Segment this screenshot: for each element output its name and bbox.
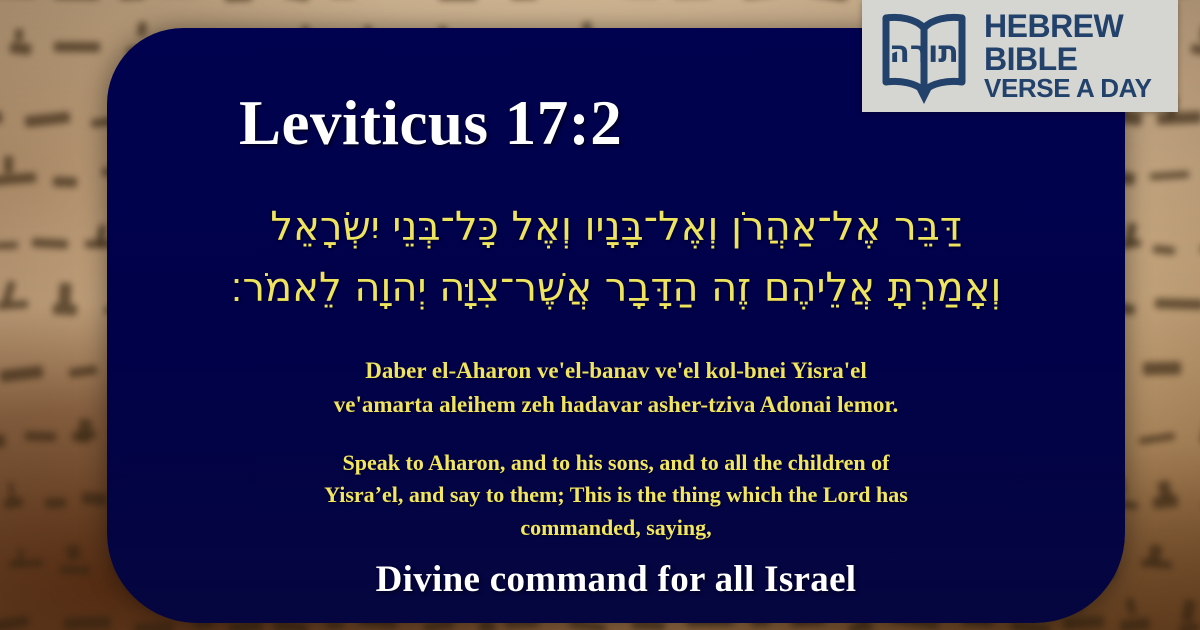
- verse-card: Leviticus 17:2 דַּבֵּר אֶל־אַהֲרֹן וְאֶל…: [107, 28, 1125, 623]
- verse-graphic: Leviticus 17:2 דַּבֵּר אֶל־אַהֲרֹן וְאֶל…: [0, 0, 1200, 630]
- verse-caption: Divine command for all Israel: [376, 558, 857, 601]
- brand-logo: תורה HEBREW BIBLE VERSE A DAY: [862, 0, 1178, 112]
- transliteration-line-1: Daber el-Aharon ve'el-banav ve'el kol-bn…: [200, 354, 1032, 387]
- torah-word: תורה: [889, 35, 958, 70]
- translation-line-3: commanded, saying,: [238, 512, 995, 544]
- transliteration-text: Daber el-Aharon ve'el-banav ve'el kol-bn…: [200, 354, 1032, 421]
- translation-line-1: Speak to Aharon, and to his sons, and to…: [238, 447, 995, 479]
- transliteration-line-2: ve'amarta aleihem zeh hadavar asher-tziv…: [200, 388, 1032, 421]
- hebrew-verse-text: דַּבֵּר אֶל־אַהֲרֹן וְאֶל־בָּנָיו וְאֶל …: [143, 197, 1089, 319]
- page-title: Leviticus 17:2: [239, 90, 622, 157]
- brand-line-3: VERSE A DAY: [984, 75, 1152, 102]
- brand-line-1: HEBREW: [984, 10, 1152, 43]
- hebrew-line-1: דַּבֵּר אֶל־אַהֲרֹן וְאֶל־בָּנָיו וְאֶל …: [143, 197, 1089, 258]
- open-book-icon: תורה: [872, 8, 976, 104]
- brand-line-2: BIBLE: [984, 43, 1152, 76]
- english-translation-text: Speak to Aharon, and to his sons, and to…: [238, 447, 995, 544]
- verse-card-content: Leviticus 17:2 דַּבֵּר אֶל־אַהֲרֹן וְאֶל…: [107, 28, 1125, 623]
- translation-line-2: Yisraʼel, and say to them; This is the t…: [238, 479, 995, 511]
- hebrew-line-2: וְאָמַרְתָּ אֲלֵיהֶם זֶה הַדָּבָר אֲשֶׁר…: [143, 258, 1089, 319]
- brand-name: HEBREW BIBLE VERSE A DAY: [984, 10, 1152, 102]
